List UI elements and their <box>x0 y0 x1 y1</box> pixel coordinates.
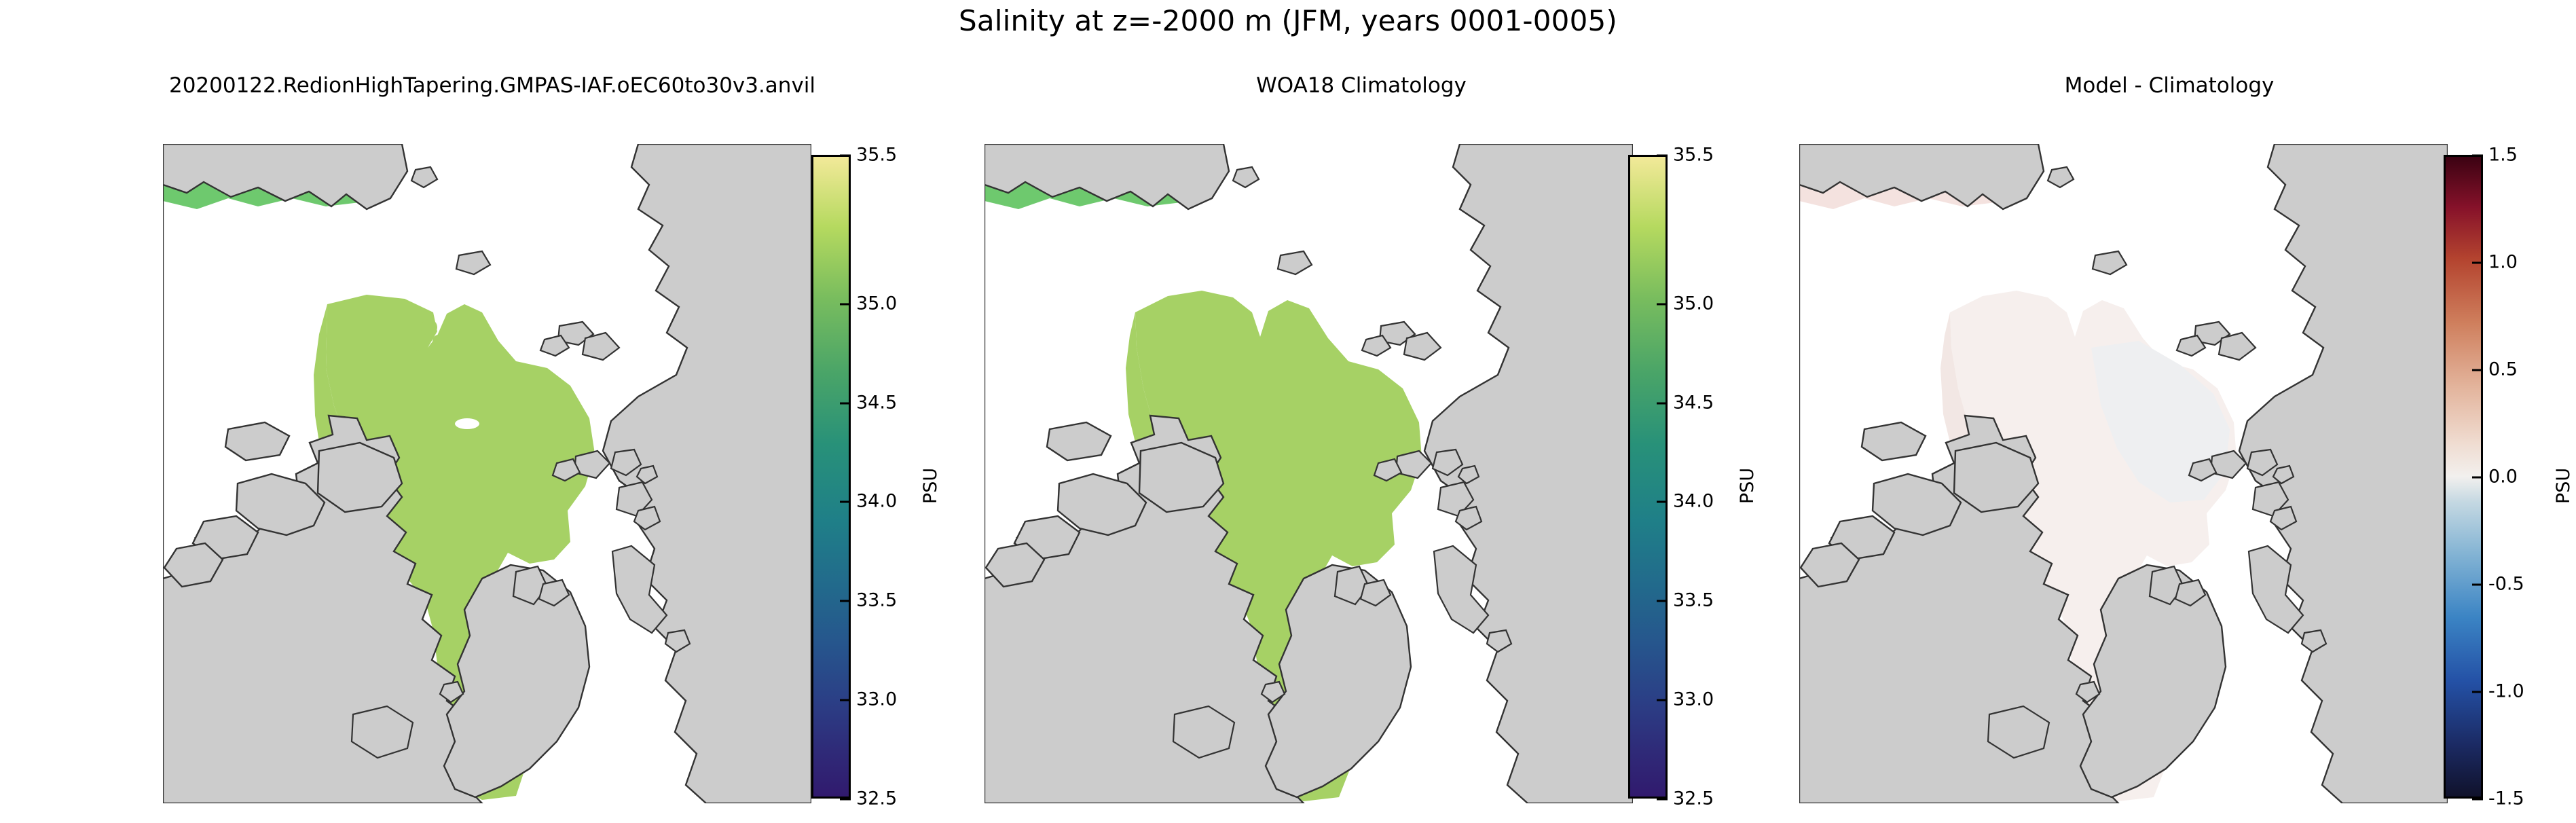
cb3-tick-5: 1.0 <box>2483 253 2518 272</box>
tick-dash <box>2472 799 2483 801</box>
map-panel-climatology[interactable] <box>985 144 1633 803</box>
cb2-tick-2: 33.5 <box>1668 591 1714 610</box>
cb1-tick-4: 34.5 <box>851 393 897 411</box>
tick-dash <box>840 402 851 404</box>
map-panel-model[interactable] <box>163 144 811 803</box>
panel-title-model: 20200122.RedionHighTapering.GMPAS-IAF.oE… <box>0 73 985 98</box>
tick-dash <box>2472 477 2483 479</box>
tick-dash <box>840 303 851 305</box>
tick-dash <box>840 799 851 801</box>
cb2-tick-4: 34.5 <box>1668 393 1714 411</box>
cb1-tick-3: 34.0 <box>851 492 897 511</box>
tick-dash <box>840 699 851 701</box>
cb3-tick-6: 1.5 <box>2483 146 2518 164</box>
cb3-tick-2: -0.5 <box>2483 575 2524 593</box>
map-panel-difference[interactable] <box>1799 144 2448 803</box>
cb3-tick-4: 0.5 <box>2483 360 2518 378</box>
colorbar-model[interactable] <box>811 155 851 799</box>
figure-title: Salinity at z=-2000 m (JFM, years 0001-0… <box>0 4 2576 37</box>
tick-dash <box>1657 303 1668 305</box>
colorbar-label-difference: PSU <box>2553 468 2574 504</box>
tick-dash <box>840 501 851 503</box>
cb2-tick-1: 33.0 <box>1668 691 1714 709</box>
tick-dash <box>1657 799 1668 801</box>
colorbar-ticks-climatology: 32.5 33.0 33.5 34.0 34.5 35.0 35.5 <box>1668 155 1783 799</box>
cb3-tick-1: -1.0 <box>2483 682 2524 700</box>
colorbar-label-model: PSU <box>920 468 941 504</box>
panel-title-difference: Model - Climatology <box>1677 73 2576 98</box>
tick-dash <box>1657 501 1668 503</box>
cb3-tick-0: -1.5 <box>2483 790 2524 808</box>
colorbar-climatology[interactable] <box>1628 155 1668 799</box>
tick-dash <box>840 155 851 157</box>
tick-dash <box>1657 699 1668 701</box>
tick-dash <box>2472 584 2483 586</box>
tick-dash <box>2472 155 2483 157</box>
cb1-tick-1: 33.0 <box>851 691 897 709</box>
tick-dash <box>2472 262 2483 264</box>
tick-dash <box>1657 155 1668 157</box>
tick-dash <box>840 600 851 602</box>
cb2-tick-3: 34.0 <box>1668 492 1714 511</box>
cb1-tick-6: 35.5 <box>851 146 897 164</box>
cb2-tick-6: 35.5 <box>1668 146 1714 164</box>
colorbar-ticks-model: 32.5 33.0 33.5 34.0 34.5 35.0 35.5 <box>851 155 966 799</box>
tick-dash <box>1657 600 1668 602</box>
tick-dash <box>2472 369 2483 371</box>
cb1-tick-5: 35.0 <box>851 294 897 312</box>
cb3-tick-3: 0.0 <box>2483 468 2518 486</box>
cb1-tick-0: 32.5 <box>851 790 897 808</box>
tick-dash <box>1657 402 1668 404</box>
cb2-tick-5: 35.0 <box>1668 294 1714 312</box>
cb2-tick-0: 32.5 <box>1668 790 1714 808</box>
colorbar-label-climatology: PSU <box>1737 468 1758 504</box>
cb1-tick-2: 33.5 <box>851 591 897 610</box>
tick-dash <box>2472 691 2483 693</box>
